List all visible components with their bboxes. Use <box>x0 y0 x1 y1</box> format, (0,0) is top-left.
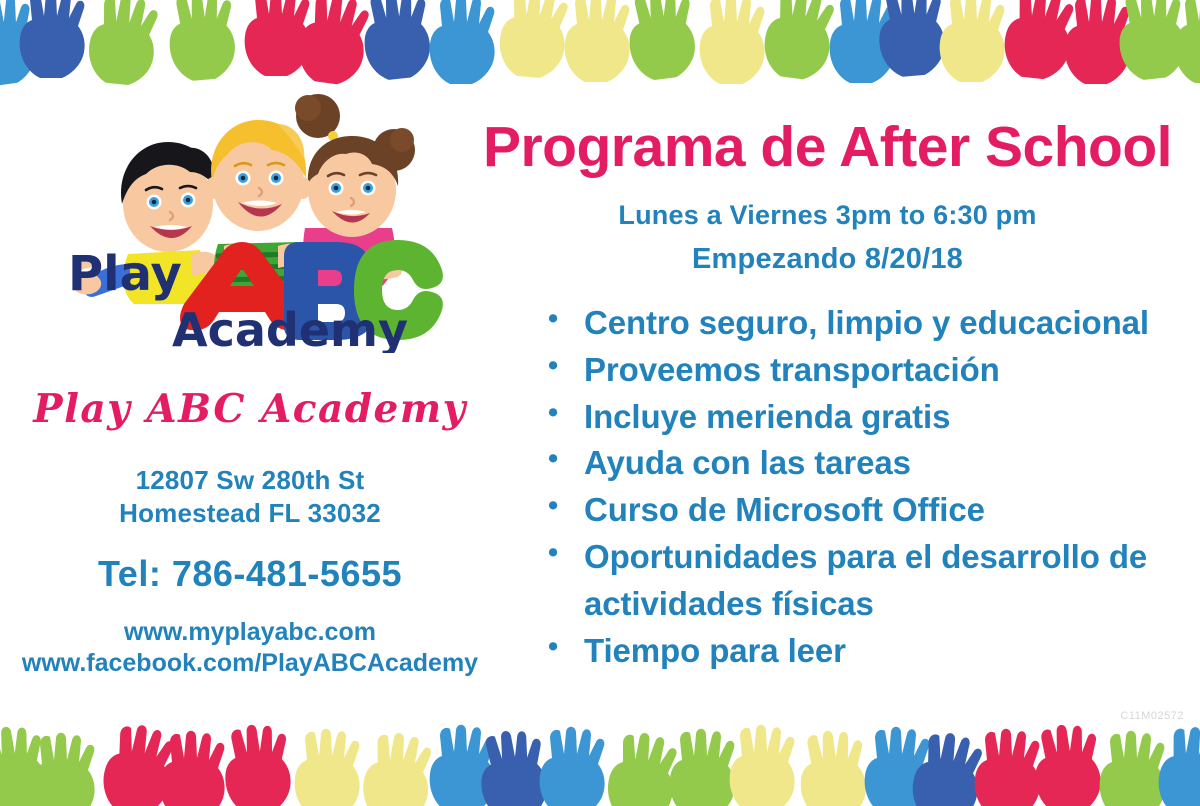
address-line-1: 12807 Sw 280th St <box>0 464 500 497</box>
address-line-2: Homestead FL 33032 <box>0 497 500 530</box>
logo-play-text: Play <box>68 246 182 302</box>
flyer-page: Play Academy Play ABC Academy 12807 Sw 2… <box>0 0 1200 806</box>
handprint-border-bottom <box>0 718 1200 806</box>
handprint-border-top <box>0 0 1200 88</box>
website-link[interactable]: www.myplayabc.com <box>0 617 500 648</box>
features-list: Centro seguro, limpio y educacional Prov… <box>470 300 1185 675</box>
logo-academy-text: Academy <box>172 303 408 353</box>
left-column: Play Academy Play ABC Academy 12807 Sw 2… <box>0 78 500 678</box>
page-title: Programa de After School <box>470 118 1185 178</box>
list-item: Proveemos transportación <box>470 347 1185 394</box>
schedule-start-date: Empezando 8/20/18 <box>470 243 1185 276</box>
list-item: Incluye merienda gratis <box>470 394 1185 441</box>
list-item: Centro seguro, limpio y educacional <box>470 300 1185 347</box>
facebook-link[interactable]: www.facebook.com/PlayABCAcademy <box>0 648 500 679</box>
schedule-hours: Lunes a Viernes 3pm to 6:30 pm <box>470 200 1185 231</box>
web-links: www.myplayabc.com www.facebook.com/PlayA… <box>0 617 500 678</box>
list-item: Oportunidades para el desarrollo de acti… <box>470 534 1185 628</box>
schedule-block: Lunes a Viernes 3pm to 6:30 pm Empezando… <box>470 200 1185 276</box>
phone-number[interactable]: Tel: 786-481-5655 <box>0 553 500 595</box>
list-item: Tiempo para leer <box>470 628 1185 675</box>
logo: Play Academy <box>50 78 450 353</box>
right-column: Programa de After School Lunes a Viernes… <box>470 118 1185 675</box>
brand-name: Play ABC Academy <box>0 389 500 430</box>
list-item: Curso de Microsoft Office <box>470 487 1185 534</box>
list-item: Ayuda con las tareas <box>470 440 1185 487</box>
address-block: 12807 Sw 280th St Homestead FL 33032 <box>0 464 500 530</box>
